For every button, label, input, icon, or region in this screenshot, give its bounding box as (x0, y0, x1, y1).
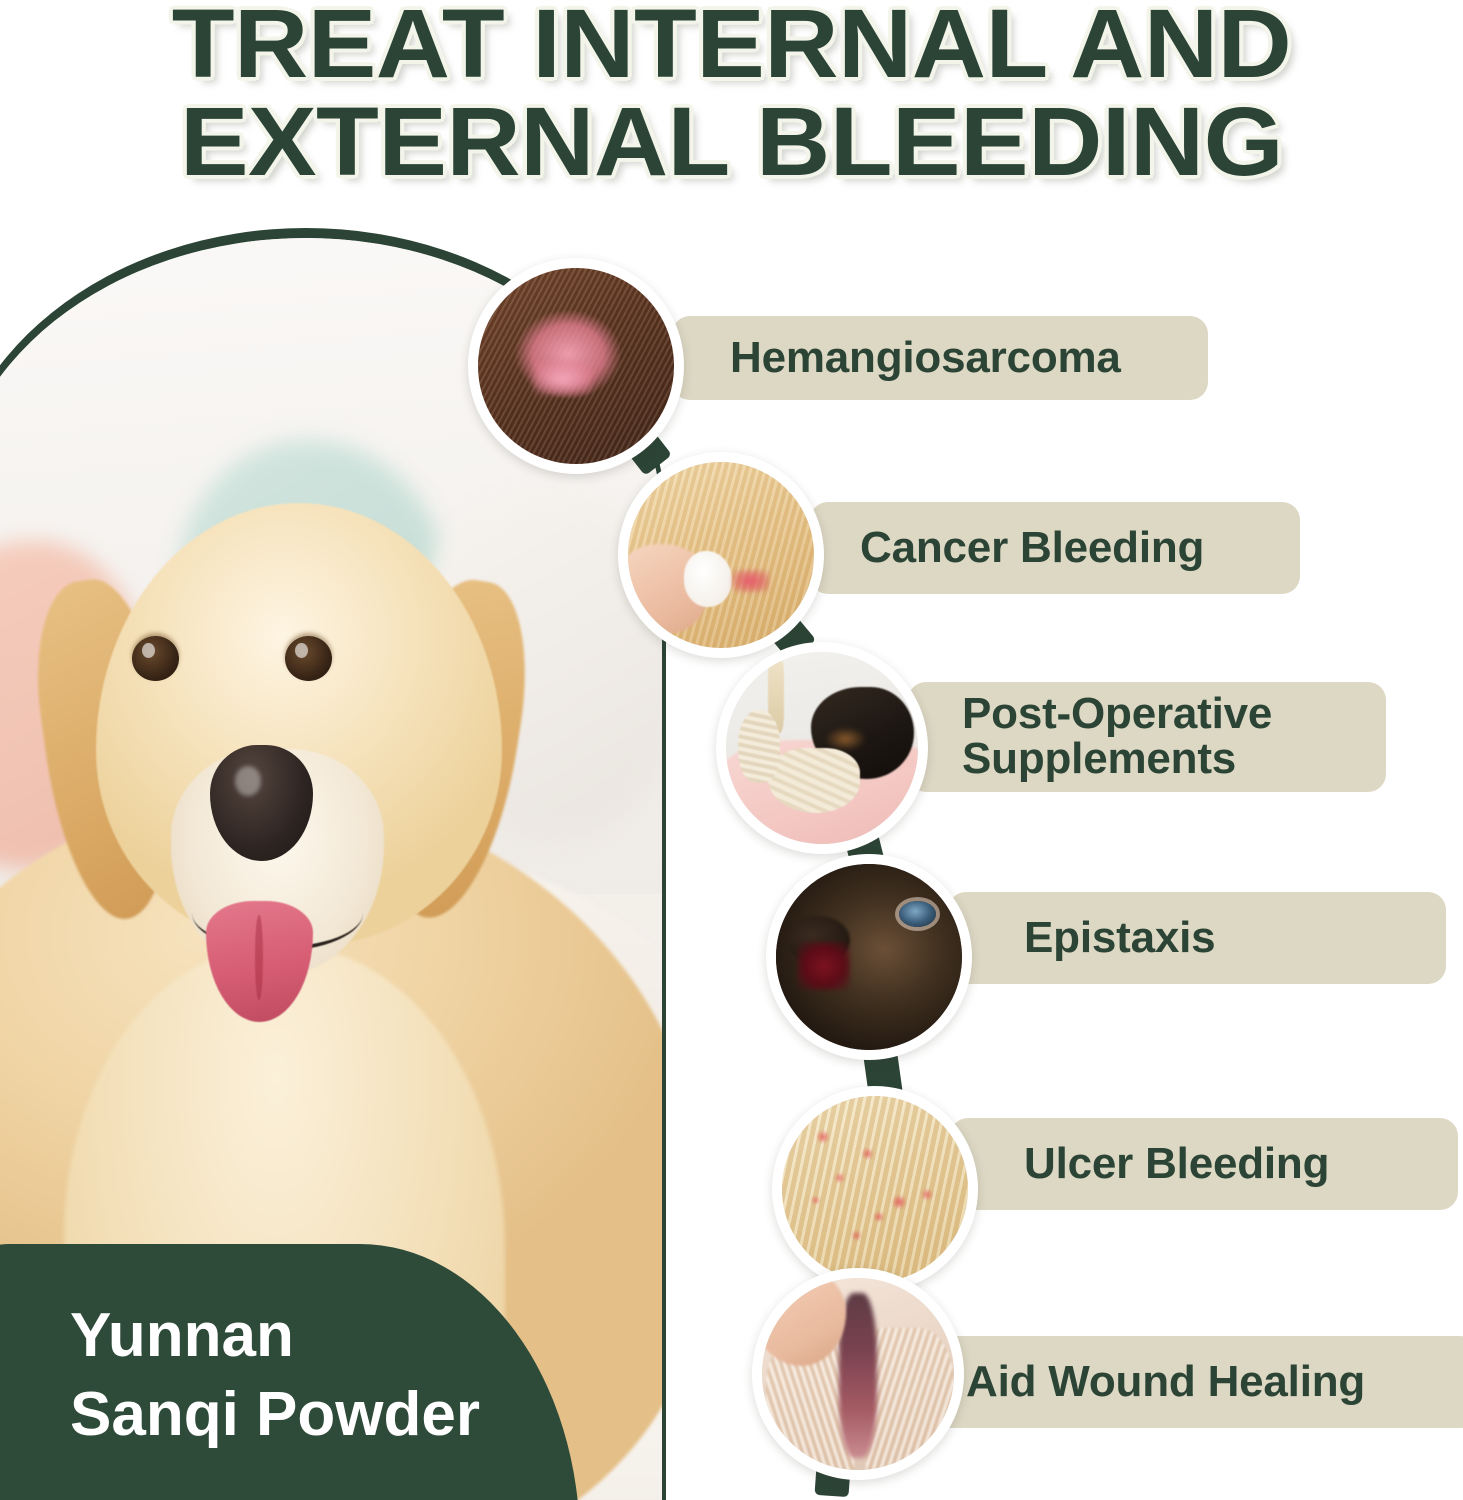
poster-title: TREAT INTERNAL AND EXTERNAL BLEEDING (0, 0, 1463, 190)
wound-spot (732, 570, 769, 592)
dog-eye (899, 901, 936, 927)
title-line-1: TREAT INTERNAL AND (0, 0, 1463, 92)
feature-image-aid-wound-healing[interactable] (752, 1268, 964, 1480)
feature-image-cancer-bleeding[interactable] (618, 452, 824, 658)
feature-image-hemangiosarcoma[interactable] (468, 258, 684, 474)
body-bandage (768, 748, 860, 813)
bandaged-leg (738, 710, 780, 783)
blood-stain (798, 942, 850, 990)
feature-image-post-operative[interactable] (716, 642, 928, 854)
product-name-text: Yunnan Sanqi Powder (70, 1296, 480, 1455)
feature-image-ulcer-bleeding[interactable] (772, 1086, 978, 1292)
product-infographic: TREAT INTERNAL AND EXTERNAL BLEEDING (0, 0, 1463, 1500)
title-line-2: EXTERNAL BLEEDING (0, 94, 1463, 190)
feature-image-epistaxis[interactable] (766, 854, 972, 1060)
fur-right (866, 1328, 954, 1470)
cotton-pad (684, 551, 732, 607)
ulcer-lesions (782, 1096, 968, 1282)
